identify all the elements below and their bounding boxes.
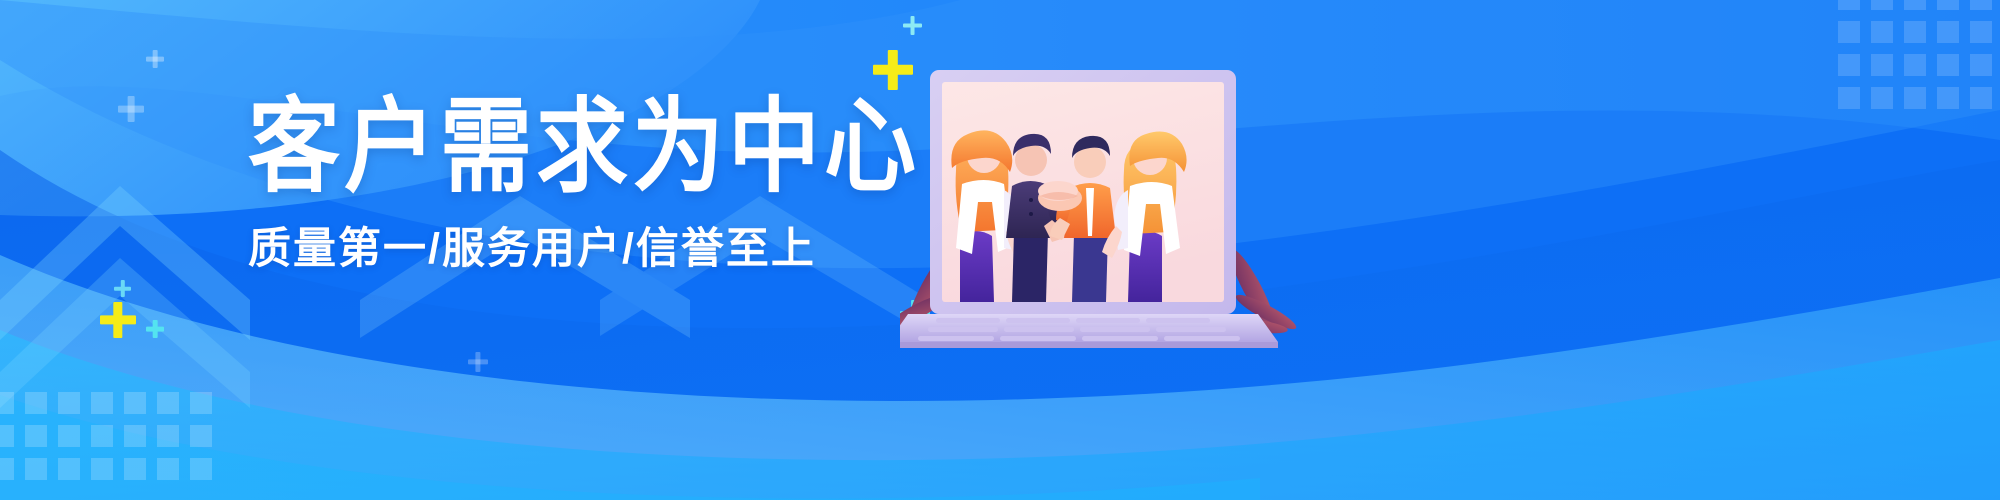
banner-subtitle: 质量第一/服务用户/信誉至上 [248,226,868,273]
laptop-front-edge [900,342,1278,348]
plus-pale-right-icon [468,352,488,372]
dot-grid-top-right [1838,0,2000,109]
promo-banner: 客户需求为中心 质量第一/服务用户/信誉至上 [0,0,2000,500]
plus-cyan-mid-left-icon [114,280,131,297]
plus-pale-left-icon [118,96,144,122]
banner-headline: 客户需求为中心 [248,96,868,201]
banner-copy: 客户需求为中心 质量第一/服务用户/信誉至上 [248,96,868,273]
dot-grid-bottom-left [0,392,212,480]
plus-yellow-bottom-left-icon [100,302,136,338]
plus-pale-upper-left-icon [146,50,164,68]
laptop-team-illustration [900,50,1300,350]
chevron-decor-left [0,186,250,408]
plus-cyan-small-top-icon [903,16,922,35]
plus-cyan-bottom-left-icon [146,320,164,338]
